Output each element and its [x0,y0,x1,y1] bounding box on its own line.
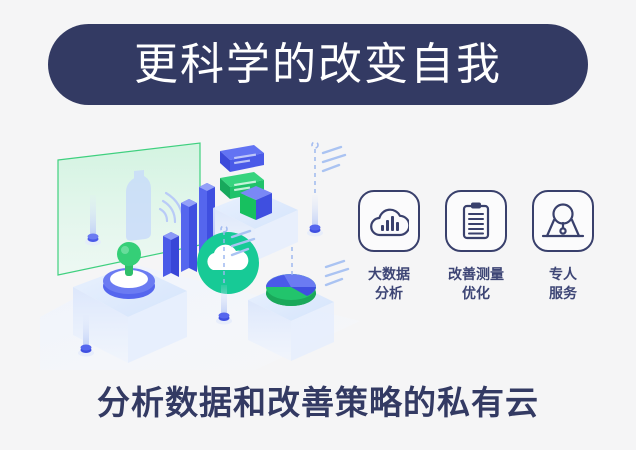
feature-item-dedicated-service[interactable]: 专人 服务 [526,190,600,304]
page-title: 更科学的改变自我 [134,43,502,87]
blue-tag [220,145,264,172]
map-pin [307,195,323,237]
feature-label: 专人 服务 [549,266,577,304]
green-blue-cube [240,186,272,220]
feature-label-line2: 优化 [448,285,504,304]
feature-label-line1: 大数据 [368,267,410,283]
feature-label: 改善测量 优化 [448,266,504,304]
support-person-icon [532,190,594,252]
feature-item-measurement-optimization[interactable]: 改善测量 优化 [439,190,513,304]
motion-ticks [326,261,348,285]
hero-illustration [40,125,360,370]
cloud-bar-chart-icon [358,190,420,252]
feature-label-line2: 服务 [549,285,577,304]
clipboard-icon [445,190,507,252]
poster-canvas: 更科学的改变自我 [0,0,636,450]
feature-label-line1: 改善测量 [448,267,504,283]
feature-list: 大数据 分析 改善测量 [352,190,600,335]
feature-label: 大数据 分析 [368,266,410,304]
motion-ticks [323,147,345,171]
feature-label-line1: 专人 [549,267,577,283]
header-pill-banner: 更科学的改变自我 [48,24,588,105]
feature-item-big-data-analysis[interactable]: 大数据 分析 [352,190,426,304]
tagline: 分析数据和改善策略的私有云 [0,383,636,423]
feature-label-line2: 分析 [368,285,410,304]
pie-chart [266,274,316,306]
